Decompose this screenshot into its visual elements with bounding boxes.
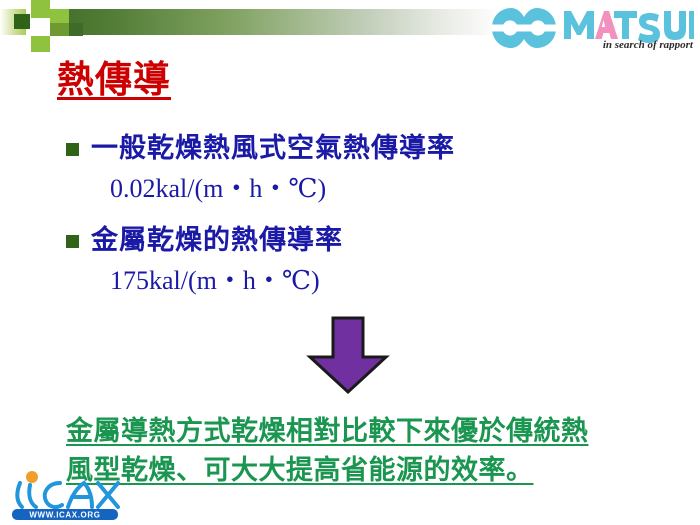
matsui-infinity-icon xyxy=(492,8,556,48)
bullet-label-1: 一般乾燥熱風式空氣熱傳導率 xyxy=(91,130,455,167)
header-square-dark xyxy=(14,14,30,29)
square-bullet-icon xyxy=(66,235,79,248)
matsui-logo: in search of rapport xyxy=(488,6,694,50)
header-square-green-5 xyxy=(69,23,83,36)
bullet-value-1: 0.02kal/(m・h・℃) xyxy=(110,171,626,207)
header-square-green-4 xyxy=(50,23,69,36)
page-title: 熱傳導 xyxy=(57,60,171,103)
bullet-list: 一般乾燥熱風式空氣熱傳導率 0.02kal/(m・h・℃) 金屬乾燥的熱傳導率 … xyxy=(66,130,626,313)
square-bullet-icon xyxy=(66,143,79,156)
bullet-value-2: 175kal/(m・h・℃) xyxy=(110,263,626,299)
icax-url-text: WWW.ICAX.ORG xyxy=(29,511,100,520)
header-square-green-2 xyxy=(31,36,50,52)
header-gradient-bar xyxy=(36,9,500,35)
icax-dot-icon xyxy=(26,471,38,483)
matsui-tagline: in search of rapport xyxy=(603,39,694,50)
conclusion-text: 金屬導熱方式乾燥相對比較下來優於傳統熱 風型乾燥、可大大提高省能源的效率。 xyxy=(66,412,666,490)
icax-logo[interactable]: WWW.ICAX.ORG xyxy=(6,467,124,523)
down-arrow-icon xyxy=(305,315,391,395)
list-item: 一般乾燥熱風式空氣熱傳導率 xyxy=(66,130,626,167)
slide-header: in search of rapport xyxy=(0,0,700,52)
conclusion-line-2: 風型乾燥、可大大提高省能源的效率。 xyxy=(66,451,666,490)
list-item: 金屬乾燥的熱傳導率 xyxy=(66,222,626,259)
conclusion-line-1: 金屬導熱方式乾燥相對比較下來優於傳統熱 xyxy=(66,412,666,451)
header-square-white xyxy=(31,18,50,36)
bullet-label-2: 金屬乾燥的熱傳導率 xyxy=(91,222,343,259)
icax-mark xyxy=(17,483,118,507)
header-square-green-3 xyxy=(50,9,69,23)
header-square-green-1 xyxy=(31,0,50,18)
